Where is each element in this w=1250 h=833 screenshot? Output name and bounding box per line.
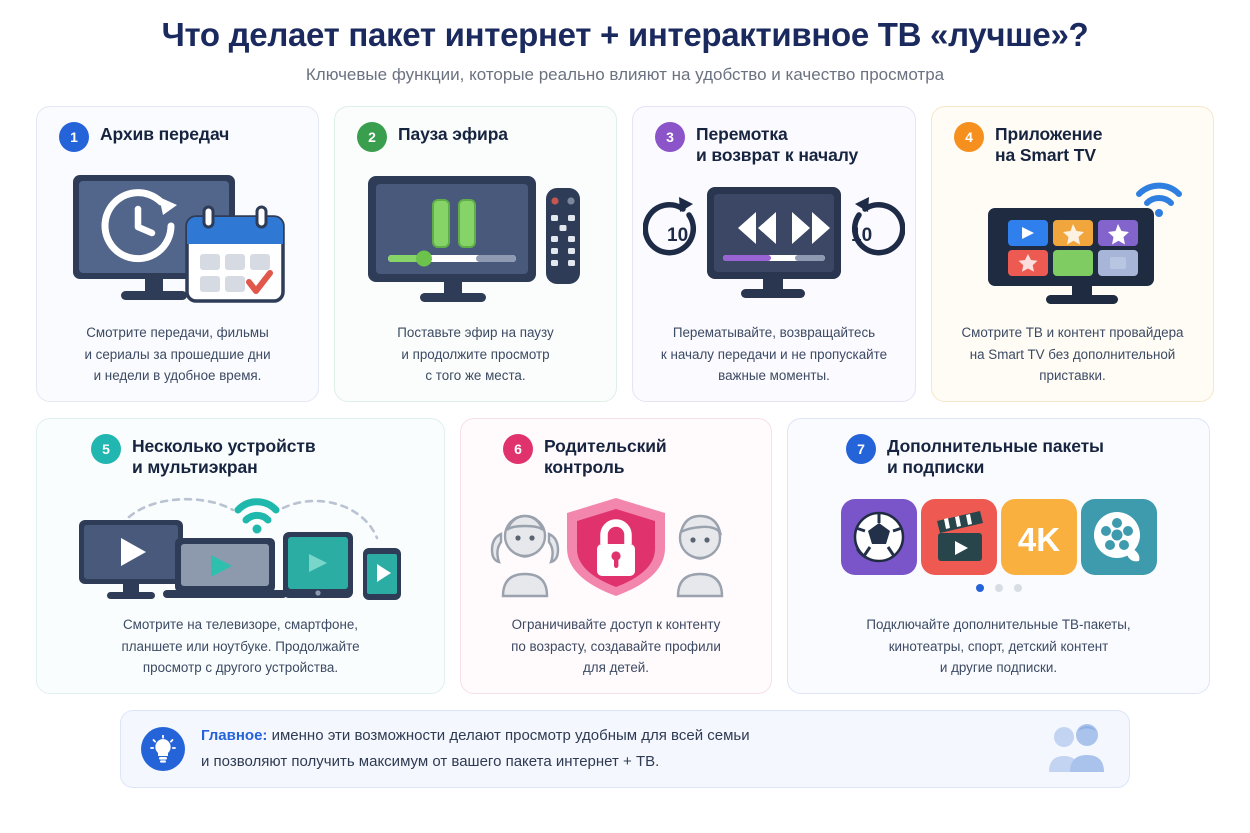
tile-4k: 4K (1001, 499, 1077, 575)
smartphone-icon (363, 548, 401, 600)
footer-accent-label: Главное: (201, 727, 267, 744)
card-description: Смотрите передачи, фильмы и сериалы за п… (47, 322, 308, 391)
card-title-line: и возврат к началу (696, 145, 858, 166)
rewind-seconds-label: 10 (667, 225, 688, 246)
card-header: 7 Дополнительные пакеты и подписки (798, 433, 1199, 477)
desc-line: по возрасту, создавайте профили (477, 636, 755, 658)
carousel-dot-3[interactable] (1014, 584, 1022, 592)
desc-line: и другие подписки. (804, 657, 1193, 679)
card-title-line: Дополнительные пакеты (887, 436, 1104, 457)
card-illustration (47, 152, 308, 322)
badge-number-3: 3 (655, 122, 685, 152)
desc-line: кинотеатры, спорт, детский контент (804, 636, 1193, 658)
card-title-line: Родительский (544, 436, 667, 457)
card-extra-packages[interactable]: 7 Дополнительные пакеты и подписки (787, 418, 1210, 694)
subscription-tiles-icon: 4K (841, 499, 1157, 575)
footer-banner: Главное: именно эти возможности делают п… (120, 710, 1130, 788)
card-header: 3 Перемотка и возврат к началу (643, 121, 905, 165)
card-title-line: и подписки (887, 457, 1104, 478)
card-multi-device[interactable]: 5 Несколько устройств и мультиэкран (36, 418, 445, 694)
card-smart-tv-app[interactable]: 4 Приложение на Smart TV (931, 106, 1214, 402)
card-illustration: 4K (798, 477, 1199, 614)
replay-10-icon: 10 (851, 197, 903, 253)
girl-avatar-icon (492, 516, 558, 596)
card-title-line: контроль (544, 457, 667, 478)
card-title: Приложение на Smart TV (995, 121, 1102, 165)
skip-back-10-icon: 10 (645, 197, 693, 253)
shield-lock-kids-icon (485, 492, 747, 600)
card-description: Ограничивайте доступ к контенту по возра… (471, 614, 761, 683)
tile-film (1081, 499, 1157, 575)
shield-lock-icon (567, 498, 665, 596)
badge-number-6: 6 (503, 434, 533, 464)
card-archive[interactable]: 1 Архив передач (36, 106, 319, 402)
tablet-icon (283, 532, 353, 598)
infographic-page: Что делает пакет интернет + интерактивно… (0, 0, 1250, 833)
badge-number-5: 5 (91, 434, 121, 464)
tv-pause-remote-icon (364, 170, 588, 304)
footer-line-1: Главное: именно эти возможности делают п… (201, 723, 1025, 749)
card-description: Перематывайте, возвращайтесь к началу пе… (643, 322, 905, 391)
card-title-line: на Smart TV (995, 145, 1102, 166)
footer-line-1-rest: именно эти возможности делают просмотр у… (267, 727, 749, 744)
desc-line: Смотрите ТВ и контент провайдера (948, 322, 1197, 344)
card-description: Смотрите ТВ и контент провайдера на Smar… (942, 322, 1203, 391)
badge-number-2: 2 (357, 122, 387, 152)
card-title: Родительский контроль (544, 433, 667, 477)
card-description: Поставьте эфир на паузу и продолжите про… (345, 322, 606, 391)
card-title-line: Перемотка (696, 124, 858, 145)
desc-line: Поставьте эфир на паузу (351, 322, 600, 344)
badge-number-4: 4 (954, 122, 984, 152)
carousel-dots[interactable] (976, 584, 1022, 592)
desktop-tv-icon (79, 520, 183, 599)
desc-line: и сериалы за прошедшие дни (53, 344, 302, 366)
tile-sport (841, 499, 917, 575)
desc-line: планшете или ноутбуке. Продолжайте (53, 636, 428, 658)
desc-line: Перематывайте, возвращайтесь (649, 322, 899, 344)
card-title: Пауза эфира (398, 121, 508, 145)
page-title: Что делает пакет интернет + интерактивно… (0, 16, 1250, 54)
football-icon (855, 513, 903, 561)
card-description: Смотрите на телевизоре, смартфоне, планш… (47, 614, 434, 683)
desc-line: Ограничивайте доступ к контенту (477, 614, 755, 636)
tv-clock-calendar-icon (67, 169, 289, 305)
card-illustration (942, 165, 1203, 322)
card-header: 4 Приложение на Smart TV (942, 121, 1203, 165)
card-title-line: Несколько устройств (132, 436, 316, 457)
card-parental-control[interactable]: 6 Родительский контроль (460, 418, 772, 694)
page-subtitle: Ключевые функции, которые реально влияют… (0, 65, 1250, 85)
card-illustration (47, 477, 434, 614)
footer-text: Главное: именно эти возможности делают п… (201, 723, 1025, 775)
laptop-icon (163, 538, 287, 598)
card-title: Несколько устройств и мультиэкран (132, 433, 316, 477)
desc-line: с того же места. (351, 365, 600, 387)
footer-wrapper: Главное: именно эти возможности делают п… (0, 710, 1250, 788)
multi-device-wifi-icon (71, 490, 411, 602)
card-header: 6 Родительский контроль (471, 433, 761, 477)
family-people-icon (1041, 724, 1107, 774)
carousel-dot-2[interactable] (995, 584, 1003, 592)
cards-row-1: 1 Архив передач (0, 106, 1250, 402)
desc-line: Смотрите на телевизоре, смартфоне, (53, 614, 428, 636)
desc-line: и недели в удобное время. (53, 365, 302, 387)
card-illustration (471, 477, 761, 614)
cards-row-2: 5 Несколько устройств и мультиэкран (0, 418, 1250, 694)
card-title-line: и мультиэкран (132, 457, 316, 478)
card-rewind[interactable]: 3 Перемотка и возврат к началу 10 (632, 106, 916, 402)
card-pause-live[interactable]: 2 Пауза эфира (334, 106, 617, 402)
card-title-line: Приложение (995, 124, 1102, 145)
4k-label: 4K (1017, 521, 1059, 558)
desc-line: приставки. (948, 365, 1197, 387)
desc-line: и продолжите просмотр (351, 344, 600, 366)
desc-line: важные моменты. (649, 365, 899, 387)
header: Что делает пакет интернет + интерактивно… (0, 0, 1250, 85)
card-header: 1 Архив передач (47, 121, 308, 152)
card-description: Подключайте дополнительные ТВ-пакеты, ки… (798, 614, 1199, 683)
desc-line: просмотр с другого устройства. (53, 657, 428, 679)
footer-line-2: и позволяют получить максимум от вашего … (201, 749, 1025, 775)
desc-line: к началу передачи и не пропускайте (649, 344, 899, 366)
desc-line: на Smart TV без дополнительной (948, 344, 1197, 366)
lightbulb-icon (141, 727, 185, 771)
tv-rewind-forward-icon: 10 (643, 179, 905, 309)
wifi-icon (238, 501, 276, 533)
boy-avatar-icon (678, 516, 722, 596)
card-title-line: Пауза эфира (398, 124, 508, 145)
card-header: 5 Несколько устройств и мультиэкран (47, 433, 434, 477)
card-illustration: 10 (643, 165, 905, 322)
card-header: 2 Пауза эфира (345, 121, 606, 152)
card-illustration (345, 152, 606, 322)
carousel-dot-1[interactable] (976, 584, 984, 592)
card-title: Перемотка и возврат к началу (696, 121, 858, 165)
desc-line: Подключайте дополнительные ТВ-пакеты, (804, 614, 1193, 636)
smart-tv-apps-wifi-icon (960, 178, 1186, 310)
replay-seconds-label: 10 (851, 225, 872, 246)
desc-line: для детей. (477, 657, 755, 679)
badge-number-1: 1 (59, 122, 89, 152)
tile-cinema (921, 499, 997, 575)
badge-number-7: 7 (846, 434, 876, 464)
card-title: Дополнительные пакеты и подписки (887, 433, 1104, 477)
desc-line: Смотрите передачи, фильмы (53, 322, 302, 344)
card-title: Архив передач (100, 121, 229, 145)
card-title-line: Архив передач (100, 124, 229, 145)
